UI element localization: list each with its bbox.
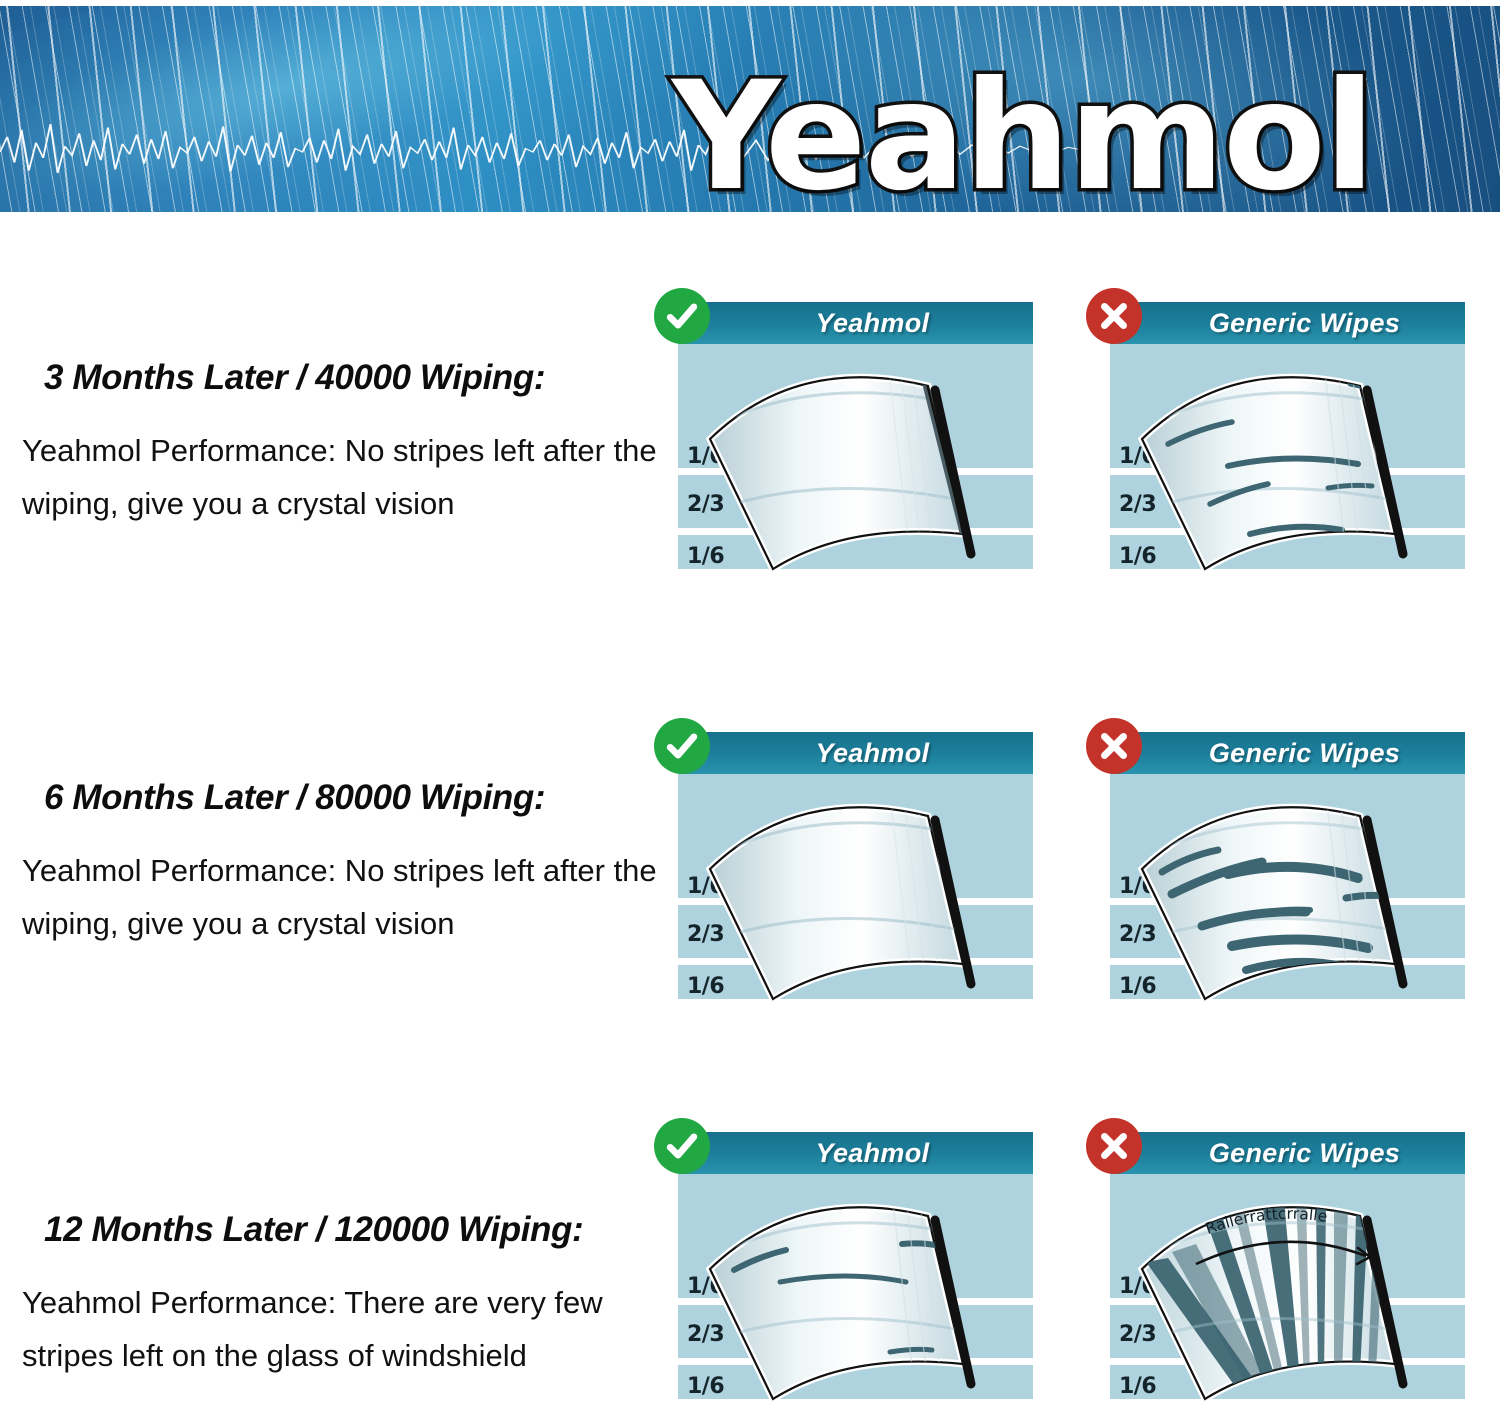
- row-3-yeahmol-body: 1/6 2/3 1/6: [678, 1174, 1033, 1406]
- row-1-yeahmol-card[interactable]: Yeahmol 1/6 2/3 1/6: [678, 302, 1033, 576]
- row-2-generic-body: 1/6 2/3 1/6: [1110, 774, 1465, 1006]
- comparison-row-3: 12 Months Later / 120000 Wiping: Yeahmol…: [0, 1110, 1500, 1412]
- row-1-yeahmol-header: Yeahmol: [678, 302, 1033, 344]
- check-icon: [654, 288, 710, 344]
- row-3-generic-title: Generic Wipes: [1175, 1138, 1400, 1169]
- row-3-generic-body: 1/6 2/3 1/6: [1110, 1174, 1465, 1406]
- row-2-yeahmol-body: 1/6 2/3 1/6: [678, 774, 1033, 1006]
- row-1-generic-title: Generic Wipes: [1175, 308, 1400, 339]
- row-1-heading: 3 Months Later / 40000 Wiping:: [44, 358, 672, 398]
- row-3-yeahmol-header: Yeahmol: [678, 1132, 1033, 1174]
- row-1-generic-body: 1/6 2/3 1/6: [1110, 344, 1465, 576]
- row-3-yeahmol-title: Yeahmol: [782, 1138, 930, 1169]
- check-icon: [654, 718, 710, 774]
- row-2-yeahmol-header: Yeahmol: [678, 732, 1033, 774]
- windshield-wipe-area: [678, 774, 1033, 1006]
- row-1-yeahmol-body: 1/6 2/3 1/6: [678, 344, 1033, 576]
- row-3-text: 12 Months Later / 120000 Wiping: Yeahmol…: [22, 1210, 672, 1383]
- comparison-row-1: 3 Months Later / 40000 Wiping: Yeahmol P…: [0, 280, 1500, 580]
- row-2-generic-title: Generic Wipes: [1175, 738, 1400, 769]
- row-2-generic-header: Generic Wipes: [1110, 732, 1465, 774]
- row-2-heading: 6 Months Later / 80000 Wiping:: [44, 778, 672, 818]
- row-2-generic-card[interactable]: Generic Wipes 1/6 2/3 1/6: [1110, 732, 1465, 1006]
- row-1-yeahmol-title: Yeahmol: [782, 308, 930, 339]
- row-3-body: Yeahmol Performance: There are very few …: [22, 1276, 667, 1383]
- cross-icon: [1086, 1118, 1142, 1174]
- row-3-yeahmol-card[interactable]: Yeahmol 1/6 2/3 1/6: [678, 1132, 1033, 1406]
- row-2-body: Yeahmol Performance: No stripes left aft…: [22, 844, 667, 951]
- brand-wordmark: Yeahmol: [672, 62, 1373, 212]
- cross-icon: [1086, 718, 1142, 774]
- check-icon: [654, 1118, 710, 1174]
- windshield-wipe-area: [1110, 344, 1465, 576]
- windshield-wipe-area: [678, 344, 1033, 576]
- windshield-wipe-area: Rallerrattcrralle: [1110, 1174, 1465, 1406]
- row-3-heading: 12 Months Later / 120000 Wiping:: [44, 1210, 672, 1250]
- windshield-wipe-area: [678, 1174, 1033, 1406]
- windshield-wipe-area: [1110, 774, 1465, 1006]
- brand-banner: Yeahmol: [0, 6, 1500, 212]
- row-3-generic-card[interactable]: Generic Wipes 1/6 2/3 1/6: [1110, 1132, 1465, 1406]
- row-2-yeahmol-card[interactable]: Yeahmol 1/6 2/3 1/6: [678, 732, 1033, 1006]
- row-3-generic-header: Generic Wipes: [1110, 1132, 1465, 1174]
- row-1-text: 3 Months Later / 40000 Wiping: Yeahmol P…: [22, 358, 672, 531]
- comparison-row-2: 6 Months Later / 80000 Wiping: Yeahmol P…: [0, 710, 1500, 1010]
- row-1-generic-header: Generic Wipes: [1110, 302, 1465, 344]
- row-2-text: 6 Months Later / 80000 Wiping: Yeahmol P…: [22, 778, 672, 951]
- row-1-body: Yeahmol Performance: No stripes left aft…: [22, 424, 667, 531]
- infographic-page: Yeahmol 3 Months Later / 40000 Wiping: Y…: [0, 0, 1500, 1412]
- cross-icon: [1086, 288, 1142, 344]
- row-1-generic-card[interactable]: Generic Wipes 1/6 2/3 1/6: [1110, 302, 1465, 576]
- row-2-yeahmol-title: Yeahmol: [782, 738, 930, 769]
